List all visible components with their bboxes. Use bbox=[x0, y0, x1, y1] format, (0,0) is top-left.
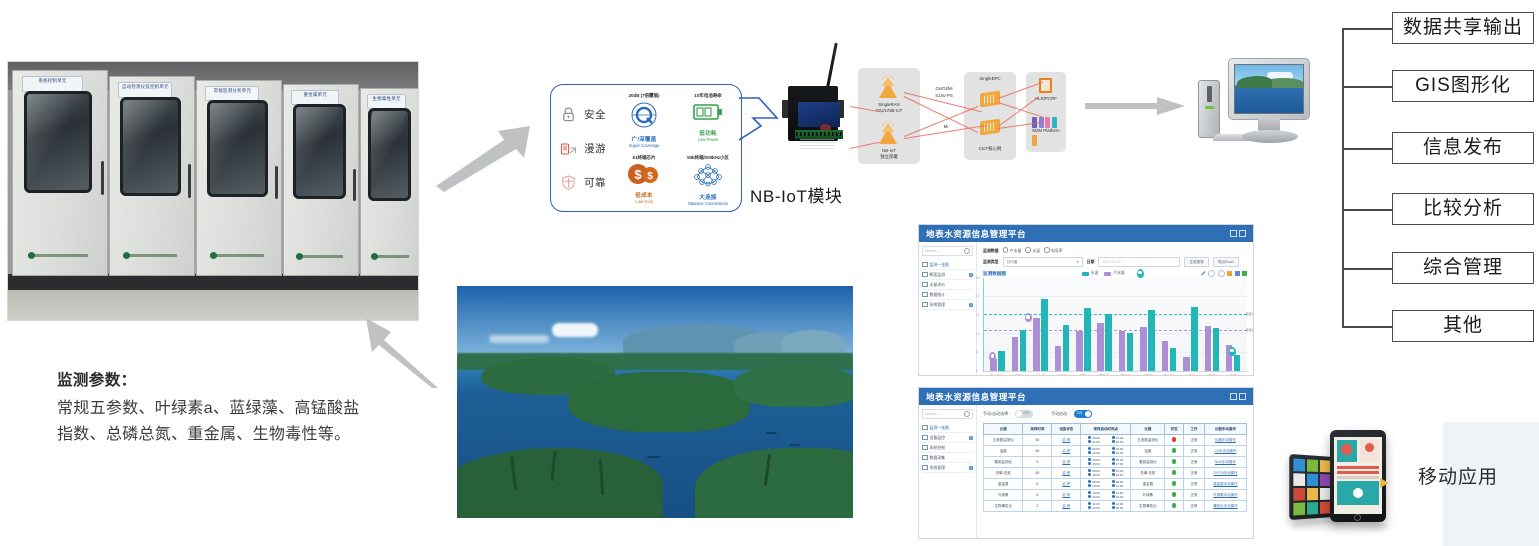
sidebar-item-data-collect[interactable]: 数据采集 bbox=[922, 453, 973, 463]
bar-group bbox=[1012, 278, 1027, 371]
table-row[interactable]: 叶绿素5启 停10:0011:0022:0023:00叶绿素正常叶绿素手动操作 bbox=[984, 490, 1247, 501]
sidebar-item-water-eval[interactable]: 水量评价 bbox=[922, 280, 973, 290]
sidebar-item-label: 系统管理 bbox=[930, 465, 946, 471]
sidebar-badge: 2 bbox=[969, 436, 973, 440]
cell-sample-interval: 60 bbox=[1023, 446, 1052, 457]
nbiot-feature-security: 安全 bbox=[559, 97, 619, 131]
chart-title: 监测数据图 bbox=[983, 271, 1006, 277]
bar-water-temp[interactable] bbox=[1213, 328, 1220, 371]
sidebar-search-input[interactable]: Search... bbox=[922, 409, 973, 419]
cell-status-dot bbox=[1165, 457, 1183, 468]
network-group-label-epc: SingleEPC bbox=[964, 76, 1016, 82]
bar-water-temp[interactable] bbox=[1063, 325, 1070, 371]
cell-instrument: 氨氮监测仪 bbox=[984, 457, 1023, 468]
bar-water-yield[interactable] bbox=[1076, 331, 1083, 371]
network-group-name: NB-IoT bbox=[882, 148, 896, 153]
svg-text:$: $ bbox=[634, 167, 642, 182]
data-pin-marker[interactable] bbox=[1025, 313, 1032, 322]
output-node-publish[interactable]: 信息发布 bbox=[1392, 132, 1534, 164]
bar-water-temp[interactable] bbox=[1148, 310, 1155, 371]
cell-instrument-2: 叶绿素 bbox=[1131, 490, 1165, 501]
arrow-network-to-computer bbox=[1085, 96, 1185, 116]
x-tick-label: 下桥 bbox=[1010, 373, 1026, 376]
photo-boat bbox=[647, 456, 661, 458]
cell-status-link[interactable]: 启 停 bbox=[1052, 457, 1081, 468]
mesh-icon bbox=[693, 163, 723, 192]
radio-option[interactable]: 产水量 bbox=[1003, 247, 1022, 254]
mobile-application-label: 移动应用 bbox=[1418, 462, 1498, 489]
pc-tower bbox=[1198, 80, 1220, 138]
cabinet-logo bbox=[296, 253, 343, 262]
monitor-type-select[interactable]: 日均值 ▾ bbox=[1003, 257, 1083, 267]
y-tick: 16 bbox=[976, 332, 980, 336]
dashboard-sidebar: Search... 监测一张图 断面监测 2 水量评价 数据统计 系统管理 3 bbox=[919, 242, 977, 375]
cabinet-handle bbox=[275, 166, 278, 199]
cabinet-unit: 系统控制单元 bbox=[12, 70, 108, 276]
cell-instrument-2: 浊度 bbox=[1131, 446, 1165, 457]
cell-sample-interval: 2 bbox=[1023, 501, 1052, 512]
cell-work-state: 正常 bbox=[1183, 457, 1204, 468]
bar-water-temp[interactable] bbox=[1234, 355, 1241, 372]
x-tick-label: 水阳桥 bbox=[1139, 373, 1155, 376]
cell-instrument-2: 氨氮监测仪 bbox=[1131, 457, 1165, 468]
quadrant-caption: 10年电池寿命 bbox=[679, 93, 737, 99]
photo-boat bbox=[790, 444, 800, 446]
photo-island bbox=[568, 372, 750, 432]
cabinet-unit: 自动检测仪监控机单元 bbox=[109, 76, 195, 276]
cabinet-logo bbox=[210, 252, 264, 261]
tree-connector bbox=[1342, 28, 1392, 30]
filter-label-date: 日期 bbox=[1087, 259, 1095, 265]
screen-divider bbox=[1337, 466, 1379, 469]
device-icon bbox=[922, 435, 928, 441]
sidebar-item-label: 水量评价 bbox=[930, 282, 946, 288]
battery-icon bbox=[693, 102, 723, 127]
bar-water-temp[interactable] bbox=[1191, 307, 1198, 371]
section-icon bbox=[922, 272, 928, 278]
y-tick: 40 bbox=[976, 276, 980, 280]
toggle-label: 手动/自动选择： bbox=[983, 411, 1012, 417]
cell-instrument: 生物毒性仪 bbox=[984, 501, 1023, 512]
dashboard-chart-window[interactable]: 地表水资源信息管理平台 Search... 监测一张图 断面监测 2 水量评价 … bbox=[918, 224, 1254, 376]
nbiot-module-label: NB-IoT模块 bbox=[750, 182, 843, 207]
gear-icon bbox=[922, 302, 928, 308]
collect-icon bbox=[922, 455, 928, 461]
arrow-photo-to-card bbox=[436, 126, 532, 192]
bar-water-yield[interactable] bbox=[1140, 327, 1147, 371]
bar-water-temp[interactable] bbox=[1020, 330, 1027, 371]
output-node-other[interactable]: 其他 bbox=[1392, 310, 1534, 342]
bar-group bbox=[1097, 278, 1112, 371]
water-body-photo bbox=[457, 286, 853, 518]
photo-mountain bbox=[782, 330, 845, 356]
device-body: NB-IOT bbox=[788, 86, 838, 141]
toggle-switch[interactable]: OFF bbox=[1015, 410, 1033, 418]
cabinet-label: 重金属单元 bbox=[291, 90, 339, 105]
cell-tower-icon bbox=[875, 74, 901, 100]
bar-water-temp[interactable] bbox=[1105, 314, 1112, 371]
tree-connector bbox=[1342, 209, 1392, 211]
cabinet-label: 系统控制单元 bbox=[22, 76, 82, 92]
data-pin-marker[interactable] bbox=[1229, 347, 1236, 356]
gear-icon bbox=[922, 465, 928, 471]
table-column-header: 采样启动时间点 bbox=[1081, 424, 1131, 435]
quadrant-title: 低成本 bbox=[613, 191, 675, 199]
select-value: 日均值 bbox=[1007, 260, 1018, 265]
table-row[interactable]: 氨氮监测仪5启 停04:0005:0016:0017:00氨氮监测仪正常NH3手… bbox=[984, 457, 1247, 468]
chart-toolbar[interactable] bbox=[1201, 270, 1248, 277]
sidebar-item-statistics[interactable]: 数据统计 bbox=[922, 290, 973, 300]
cell-manual-action[interactable]: NH3手动操作 bbox=[1204, 457, 1246, 468]
nbiot-feature-label: 漫游 bbox=[584, 141, 606, 156]
map-icon bbox=[922, 262, 928, 268]
x-tick-label: 白沙桥(1) bbox=[989, 373, 1005, 376]
shield-icon bbox=[559, 173, 578, 192]
search-placeholder: Search... bbox=[925, 249, 939, 253]
sidebar-item-label: 设备监控 bbox=[930, 435, 946, 441]
equipment-cabinet-photo: 系统控制单元 自动检测仪监控机单元 常规监测分析单元 重金属单元 生物毒性单元 bbox=[8, 62, 418, 320]
mobile-devices-image bbox=[1288, 428, 1398, 532]
cabinet-window bbox=[368, 108, 411, 201]
table-row[interactable]: 浊度60启 停02:0003:0014:0015:00浊度正常COD手动操作 bbox=[984, 446, 1247, 457]
output-node-compare[interactable]: 比较分析 bbox=[1392, 193, 1534, 225]
table-row[interactable]: 生物毒性仪2启 停11:0012:0023:0000:00生物毒性仪正常毒性仪手… bbox=[984, 501, 1247, 512]
cabinet-unit: 重金属单元 bbox=[283, 84, 359, 276]
nbiot-quadrant-massive: 50k终端/200kHz小区 大连接 Massive Connections bbox=[677, 155, 739, 206]
date-input[interactable]: 2017-03-02 bbox=[1098, 257, 1180, 267]
cell-sample-times: 11:0012:0023:0000:00 bbox=[1081, 501, 1131, 512]
cell-sample-times: 04:0005:0016:0017:00 bbox=[1081, 457, 1131, 468]
cell-status-link[interactable]: 启 停 bbox=[1052, 435, 1081, 446]
sidebar-item-section-monitor[interactable]: 断面监测 2 bbox=[922, 270, 973, 280]
x-tick-label: 新站点 bbox=[1118, 373, 1134, 376]
cabinet-handle bbox=[353, 169, 356, 201]
cell-sample-times: 10:0011:0022:0023:00 bbox=[1081, 490, 1131, 501]
cabinet-logo bbox=[123, 252, 177, 261]
bar-group bbox=[1076, 278, 1091, 371]
sidebar-item-map[interactable]: 监测一张图 bbox=[922, 260, 973, 270]
bar-group bbox=[1205, 278, 1220, 371]
toggle-row: 手动/自动选择： OFF 手动启动： ON bbox=[983, 410, 1247, 418]
output-tree: 数据共享输出 GIS图形化 信息发布 比较分析 综合管理 其他 bbox=[1336, 6, 1534, 344]
output-node-management[interactable]: 综合管理 bbox=[1392, 252, 1534, 284]
quadrant-subtitle: Low Cost bbox=[613, 199, 675, 204]
cell-status-link[interactable]: 启 停 bbox=[1052, 501, 1081, 512]
toggle-label: 手动启动： bbox=[1051, 411, 1071, 417]
screen-card-profile bbox=[1360, 440, 1379, 462]
filter-label-data: 监测数据 bbox=[983, 248, 999, 254]
tablet-device bbox=[1330, 430, 1386, 522]
cabinet-label: 常规监测分析单元 bbox=[205, 86, 259, 102]
map-icon bbox=[922, 425, 928, 431]
sidebar-item-sampling[interactable]: 采样控制 bbox=[922, 443, 973, 453]
dashboard-main-panel: 手动/自动选择： OFF 手动启动： ON 仪器采样时间设备状态采样启动时间点仪… bbox=[977, 405, 1253, 538]
screen-divider bbox=[1337, 476, 1379, 479]
monitoring-parameters-block: 监测参数： 常规五参数、叶绿素a、蓝绿藻、高锰酸盐指数、总磷总氮、重金属、生物毒… bbox=[57, 368, 367, 448]
cell-instrument: 总磷·总氮 bbox=[984, 468, 1023, 479]
screen-card-chart bbox=[1337, 440, 1357, 462]
network-group-label: NB-IoT 独立部署 bbox=[858, 148, 920, 160]
network-architecture-diagram: SingleRAN G/U/L/NB-IoT NB-IoT 独立部署 Singl… bbox=[858, 62, 1066, 168]
window-controls[interactable] bbox=[1230, 230, 1246, 237]
sidebar-badge: 3 bbox=[969, 303, 973, 307]
bar-water-yield[interactable] bbox=[1033, 318, 1040, 371]
cabinet-logo bbox=[371, 253, 409, 262]
nbiot-feature-reliable: 可靠 bbox=[559, 165, 619, 199]
cell-status-dot bbox=[1165, 501, 1183, 512]
cabinet-window bbox=[293, 104, 346, 199]
quadrant-caption: 20dB (7倍覆盖) bbox=[613, 93, 675, 99]
table-header-row: 仪器采样时间设备状态采样启动时间点仪器状态工作仪器手动操作 bbox=[984, 424, 1247, 435]
monitor-screen bbox=[1234, 64, 1304, 114]
sidebar-item-label: 数据统计 bbox=[930, 292, 946, 298]
eval-icon bbox=[922, 282, 928, 288]
epc-node-icon bbox=[980, 91, 1000, 108]
cabinet-logo bbox=[28, 252, 88, 261]
bar-water-yield[interactable] bbox=[1205, 326, 1212, 371]
cell-instrument: 五参数监测仪 bbox=[984, 435, 1023, 446]
hlr-pcrf-icon bbox=[1039, 78, 1052, 93]
toggle-state: ON bbox=[1077, 411, 1082, 415]
cell-status-dot bbox=[1165, 446, 1183, 457]
photo-boat bbox=[766, 432, 777, 434]
card-callout-tail bbox=[739, 96, 779, 142]
device-status-table: 仪器采样时间设备状态采样启动时间点仪器状态工作仪器手动操作 五参数监测仪60启 … bbox=[983, 423, 1247, 512]
coverage-icon bbox=[630, 101, 658, 134]
screen-divider bbox=[1337, 471, 1379, 474]
legend-item-water-yield: 产水量 bbox=[1104, 271, 1124, 276]
table-column-header: 状态 bbox=[1165, 424, 1183, 435]
quadrant-subtitle: Low Power bbox=[679, 137, 737, 142]
cell-instrument: 叶绿素 bbox=[984, 490, 1023, 501]
cell-instrument-2: 总磷·总氮 bbox=[1131, 468, 1165, 479]
cell-status-link[interactable]: 启 停 bbox=[1052, 490, 1081, 501]
cell-sample-interval: 5 bbox=[1023, 479, 1052, 490]
x-axis-labels: 白沙桥(1)下桥山头坞山门闸中亭国家闸新站点水阳桥南山站7#站点杨家西坝 bbox=[983, 373, 1247, 376]
table-column-header: 工作 bbox=[1183, 424, 1204, 435]
nbiot-feature-roaming: 漫游 bbox=[559, 131, 619, 165]
toggle-manual-start[interactable]: 手动启动： ON bbox=[1051, 410, 1092, 418]
output-node-data-sharing[interactable]: 数据共享输出 bbox=[1392, 12, 1534, 44]
cell-instrument-2: 重金属 bbox=[1131, 479, 1165, 490]
cabinet-label: 自动检测仪监控机单元 bbox=[118, 82, 172, 98]
monitoring-parameters-text: 常规五参数、叶绿素a、蓝绿藻、高锰酸盐指数、总磷总氮、重金属、生物毒性等。 bbox=[57, 396, 367, 448]
circle-icon bbox=[1208, 270, 1215, 277]
quadrant-subtitle: Massive Connections bbox=[677, 201, 739, 206]
bar-water-temp[interactable] bbox=[1127, 333, 1134, 371]
table-row[interactable]: 重金属5启 停08:0009:0020:0021:00重金属正常重金属手动操作 bbox=[984, 479, 1247, 490]
sidebar-search-input[interactable]: Search... bbox=[922, 246, 973, 256]
quadrant-title: 低功耗 bbox=[679, 129, 737, 137]
cell-sample-interval: 5 bbox=[1023, 490, 1052, 501]
cell-manual-action[interactable]: 叶绿素手动操作 bbox=[1204, 490, 1246, 501]
filter-row-controls: 监测类型 日均值 ▾ 日期 2017-03-02 生成报表 导出Excel bbox=[983, 257, 1247, 267]
cabinet-handle bbox=[188, 164, 191, 198]
stats-icon bbox=[922, 292, 928, 298]
cell-instrument-2: 五参数监测仪 bbox=[1131, 435, 1165, 446]
y-tick: 8 bbox=[976, 350, 978, 354]
sidebar-item-system[interactable]: 系统管理 3 bbox=[922, 300, 973, 310]
cell-sample-times: 08:0009:0020:0021:00 bbox=[1081, 479, 1131, 490]
minimize-icon bbox=[1230, 393, 1237, 400]
x-tick-label: 中亭 bbox=[1075, 373, 1091, 376]
bar-water-temp[interactable] bbox=[1041, 299, 1048, 371]
table-column-header: 设备状态 bbox=[1052, 424, 1081, 435]
network-group-label-ciot: CIoT核心网 bbox=[964, 146, 1016, 152]
bar-water-yield[interactable] bbox=[1119, 331, 1126, 371]
cell-status-dot bbox=[1165, 435, 1183, 446]
radio-option[interactable]: 电导率 bbox=[1044, 247, 1063, 254]
line-icon bbox=[1235, 271, 1240, 276]
generate-report-button[interactable]: 生成报表 bbox=[1184, 257, 1208, 267]
table-column-header: 仪器 bbox=[1131, 424, 1165, 435]
photo-plinth bbox=[8, 274, 418, 290]
tablet-screen bbox=[1334, 437, 1382, 514]
cabinet-unit: 生物毒性单元 bbox=[360, 88, 418, 276]
bar-group bbox=[1183, 278, 1198, 371]
device-reflection bbox=[1292, 520, 1388, 534]
chevron-down-icon: ▾ bbox=[1077, 260, 1079, 264]
tree-connector bbox=[1342, 326, 1392, 328]
dashboard-main-panel: 监测数据 产水量 水温 电导率 监测类型 日均值 ▾ 日期 2017-03-02… bbox=[977, 242, 1253, 375]
bar-water-temp[interactable] bbox=[1084, 308, 1091, 371]
table-row[interactable]: 五参数监测仪60启 停00:0012:0001:0004:00五参数监测仪正常仪… bbox=[984, 435, 1247, 446]
link-label-1: Gx/Gi/Mi bbox=[926, 86, 962, 92]
nbiot-feature-card: 安全 漫游 可靠 20dB (7倍覆盖) 广/深覆盖 Super Coverag… bbox=[550, 84, 742, 212]
bar-water-yield[interactable] bbox=[1162, 341, 1169, 371]
tree-connector bbox=[1342, 268, 1392, 270]
coin-icon: $$ bbox=[626, 163, 662, 190]
nbiot-module-device: NB-IOT bbox=[782, 72, 844, 152]
dashboard-title: 地表水资源信息管理平台 bbox=[926, 391, 1026, 403]
output-node-gis[interactable]: GIS图形化 bbox=[1392, 70, 1534, 102]
bar-water-yield[interactable] bbox=[1183, 357, 1190, 371]
cell-work-state: 正常 bbox=[1183, 435, 1204, 446]
sidebar-item-device-monitor[interactable]: 设备监控 2 bbox=[922, 433, 973, 443]
bar-water-yield[interactable] bbox=[1097, 323, 1104, 371]
y-tick: 0 bbox=[976, 369, 978, 373]
cell-instrument: 重金属 bbox=[984, 479, 1023, 490]
y-tick: 24 bbox=[976, 313, 980, 317]
cell-status-link[interactable]: 启 停 bbox=[1052, 479, 1081, 490]
nbiot-feature-label: 安全 bbox=[584, 107, 606, 122]
radio-option[interactable]: 水温 bbox=[1025, 247, 1040, 254]
x-tick-label: 山头坞 bbox=[1032, 373, 1048, 376]
desktop-computer-icon bbox=[1190, 52, 1318, 156]
bar-group bbox=[1055, 278, 1070, 371]
table-column-header: 采样时间 bbox=[1023, 424, 1052, 435]
cell-status-link[interactable]: 启 停 bbox=[1052, 468, 1081, 479]
maximize-icon bbox=[1239, 230, 1246, 237]
bar-water-temp[interactable] bbox=[998, 351, 1005, 371]
cell-status-dot bbox=[1165, 468, 1183, 479]
cell-work-state: 正常 bbox=[1183, 468, 1204, 479]
export-excel-button[interactable]: 导出Excel bbox=[1213, 257, 1239, 267]
data-pin-marker[interactable] bbox=[1137, 269, 1144, 278]
sidebar-item-system[interactable]: 系统管理 3 bbox=[922, 463, 973, 473]
cabinet-label: 生物毒性单元 bbox=[367, 94, 406, 109]
dashboard-titlebar: 地表水资源信息管理平台 bbox=[919, 225, 1253, 242]
cell-instrument-2: 生物毒性仪 bbox=[1131, 501, 1165, 512]
network-group-label-m2m: M2M Platform bbox=[1024, 128, 1068, 134]
bar-water-yield[interactable] bbox=[1055, 346, 1062, 371]
nbiot-quadrant-lowcost: $1终端芯片 $$ 低成本 Low Cost bbox=[613, 155, 675, 204]
dashboard-title: 地表水资源信息管理平台 bbox=[926, 228, 1026, 240]
bar-water-temp[interactable] bbox=[1170, 348, 1177, 371]
antenna-icon bbox=[826, 43, 838, 89]
cell-manual-action[interactable]: 仪器手动操作 bbox=[1204, 435, 1246, 446]
cell-work-state: 正常 bbox=[1183, 501, 1204, 512]
photo-island bbox=[734, 365, 853, 407]
cell-sample-interval: 60 bbox=[1023, 468, 1052, 479]
cell-sample-times: 00:0012:0001:0004:00 bbox=[1081, 435, 1131, 446]
quadrant-caption: 50k终端/200kHz小区 bbox=[677, 155, 739, 161]
cell-instrument: 浊度 bbox=[984, 446, 1023, 457]
photo-cloud bbox=[552, 323, 598, 337]
tree-connector bbox=[1342, 86, 1392, 88]
x-tick-label: 山门闸 bbox=[1053, 373, 1069, 376]
toggle-manual-auto[interactable]: 手动/自动选择： OFF bbox=[983, 410, 1033, 418]
bar-group bbox=[1119, 278, 1134, 371]
cell-work-state: 正常 bbox=[1183, 446, 1204, 457]
svg-text:$: $ bbox=[647, 171, 653, 182]
bar-water-yield[interactable] bbox=[1012, 337, 1019, 371]
sidebar-item-label: 监测一张图 bbox=[930, 262, 949, 268]
legend-item-water-temp: 水温 bbox=[1082, 271, 1099, 276]
maximize-icon bbox=[1239, 393, 1246, 400]
nbiot-quadrant-lowpower: 10年电池寿命 低功耗 Low Power bbox=[679, 93, 737, 142]
cell-sample-times: 06:0007:0018:0019:00 bbox=[1081, 468, 1131, 479]
cell-manual-action[interactable]: COD手动操作 bbox=[1204, 446, 1246, 457]
bar-group bbox=[1226, 278, 1241, 371]
quadrant-title: 广/深覆盖 bbox=[613, 135, 675, 143]
cabinet-unit: 常规监测分析单元 bbox=[196, 80, 282, 276]
home-button-icon[interactable] bbox=[1354, 514, 1361, 521]
x-tick-label: 杨家 bbox=[1204, 373, 1220, 376]
dashboard-table-window[interactable]: 地表水资源信息管理平台 Search... 监测一张图 设备监控 2 采样控制 … bbox=[918, 387, 1254, 539]
tree-spine bbox=[1342, 28, 1344, 326]
window-controls[interactable] bbox=[1230, 393, 1246, 400]
bar-group bbox=[1140, 278, 1155, 371]
cell-manual-action[interactable]: TP/TN手动操作 bbox=[1204, 468, 1246, 479]
bar-icon bbox=[1242, 271, 1247, 276]
bar-group bbox=[1033, 278, 1048, 371]
link-label-3: Mi bbox=[936, 124, 956, 130]
screen-video-card bbox=[1337, 481, 1379, 505]
x-tick-label: 西坝 bbox=[1225, 373, 1241, 376]
pen-icon bbox=[1201, 271, 1206, 276]
cell-sample-interval: 5 bbox=[1023, 457, 1052, 468]
cabinet-window bbox=[120, 97, 180, 196]
cabinet-window bbox=[24, 91, 92, 193]
network-group-label: SingleRAN G/U/L/NB-IoT bbox=[858, 102, 920, 114]
lock-icon bbox=[559, 105, 578, 124]
pointer-arrow-icon bbox=[1380, 478, 1389, 488]
toggle-switch[interactable]: ON bbox=[1074, 410, 1092, 418]
search-placeholder: Search... bbox=[925, 412, 939, 416]
photo-foreground-bank bbox=[457, 448, 663, 518]
table-row[interactable]: 总磷·总氮60启 停06:0007:0018:0019:00总磷·总氮正常TP/… bbox=[984, 468, 1247, 479]
monitor-base bbox=[1242, 130, 1298, 143]
cell-manual-action[interactable]: 毒性仪手动操作 bbox=[1204, 501, 1246, 512]
quadrant-caption: $1终端芯片 bbox=[613, 155, 675, 161]
cell-status-link[interactable]: 启 停 bbox=[1052, 446, 1081, 457]
cell-manual-action[interactable]: 重金属手动操作 bbox=[1204, 479, 1246, 490]
filter-label-type: 监测类型 bbox=[983, 259, 999, 265]
dashboard-titlebar: 地表水资源信息管理平台 bbox=[919, 388, 1253, 405]
monitor bbox=[1228, 58, 1310, 120]
sidebar-item-map[interactable]: 监测一张图 bbox=[922, 423, 973, 433]
